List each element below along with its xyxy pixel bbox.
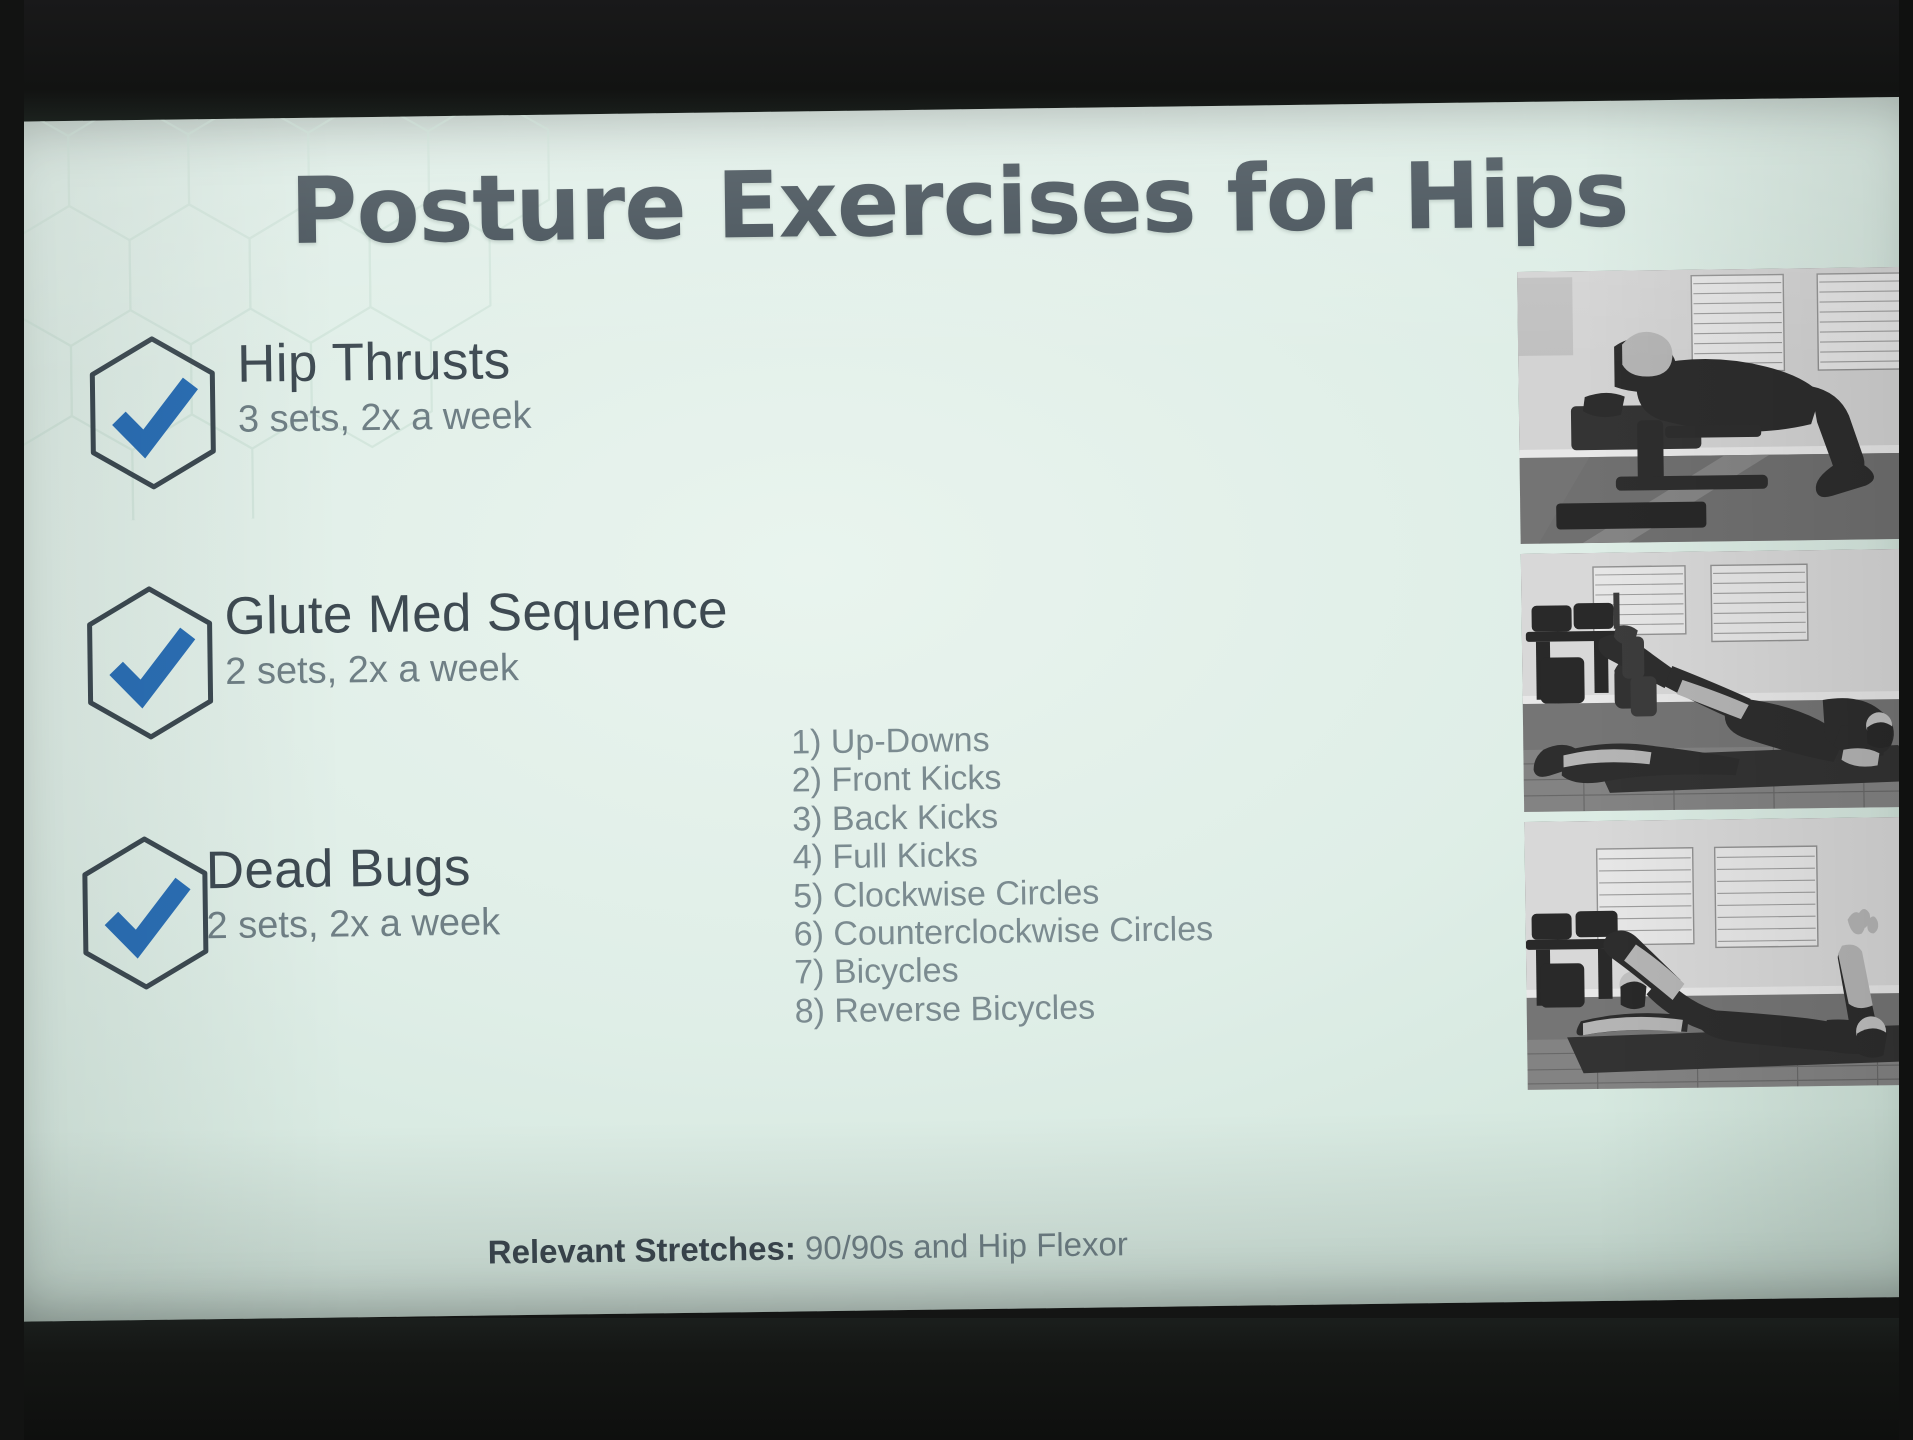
exercise-row-dead-bugs: Dead Bugs 2 sets, 2x a week [75,820,888,1081]
exercise-name: Glute Med Sequence [224,582,728,645]
room-surround-bottom [0,1318,1913,1440]
photo-hip-thrust [1517,267,1913,544]
exercise-row-hip-thrusts: Hip Thrusts 3 sets, 2x a week [69,320,882,581]
hexagon-check-icon [83,333,223,493]
room-surround-left [0,0,24,1440]
exercise-dosage: 3 sets, 2x a week [238,393,532,444]
projector-scene: Posture Exercises for Hips Hip Thrusts 3… [0,0,1913,1440]
exercise-list: Hip Thrusts 3 sets, 2x a week Glute Med … [69,320,889,1081]
relevant-stretches-value: 90/90s and Hip Flexor [805,1225,1128,1266]
exercise-name: Dead Bugs [205,839,499,899]
hexagon-check-icon [80,583,220,743]
exercise-text-block: Dead Bugs 2 sets, 2x a week [205,839,500,951]
exercise-photo-column [1517,267,1913,1100]
room-surround-right [1899,0,1913,1440]
sequence-item: 8) Reverse Bicycles [794,986,1314,1031]
hexagon-check-icon [75,833,215,993]
exercise-text-block: Hip Thrusts 3 sets, 2x a week [237,333,532,445]
presentation-slide: Posture Exercises for Hips Hip Thrusts 3… [0,97,1913,1322]
glute-med-sequence-list: 1) Up-Downs 2) Front Kicks 3) Back Kicks… [791,717,1315,1031]
photo-side-lying-leg-raise [1521,549,1913,812]
photo-dead-bug [1524,817,1913,1090]
slide-title: Posture Exercises for Hips [0,137,1913,269]
exercise-row-glute-med-sequence: Glute Med Sequence 2 sets, 2x a week [72,570,885,831]
relevant-stretches-label: Relevant Stretches: [488,1230,797,1271]
exercise-dosage: 2 sets, 2x a week [225,643,729,697]
relevant-stretches-footer: Relevant Stretches: 90/90s and Hip Flexo… [3,1219,1613,1278]
exercise-dosage: 2 sets, 2x a week [206,900,500,951]
exercise-name: Hip Thrusts [237,333,531,393]
exercise-text-block: Glute Med Sequence 2 sets, 2x a week [224,582,729,696]
